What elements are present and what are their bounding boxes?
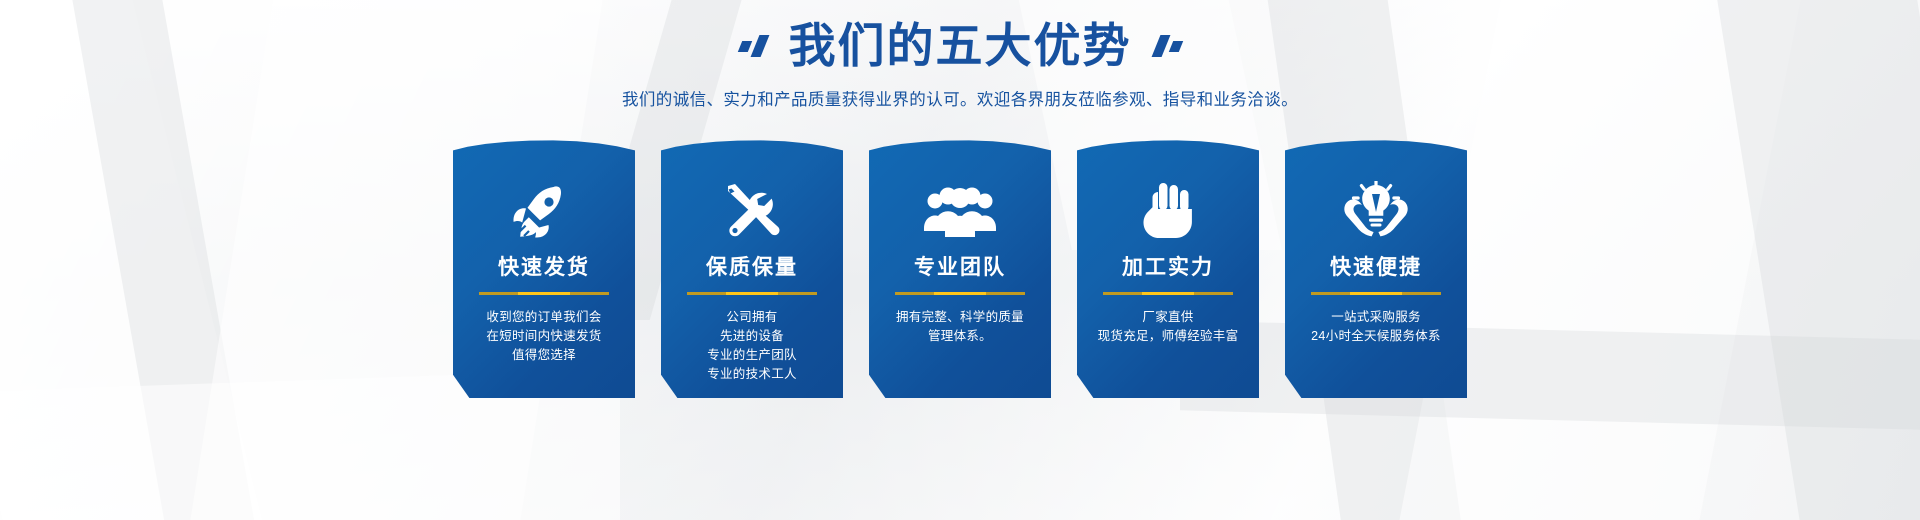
- card-body-line: 值得您选择: [453, 346, 635, 365]
- card-body-line: 24小时全天候服务体系: [1285, 327, 1467, 346]
- card-divider: [1103, 292, 1233, 295]
- header: 我们的五大优势 我们的诚信、实力和产品质量获得业界的认可。欢迎各界朋友莅临参观、…: [0, 0, 1920, 110]
- card-body: 厂家直供 现货充足，师傅经验丰富: [1077, 308, 1259, 346]
- card-divider: [895, 292, 1025, 295]
- left-slash-ornament-icon: [740, 35, 765, 57]
- card-body-line: 一站式采购服务: [1285, 308, 1467, 327]
- fist-hand-icon: [1077, 180, 1259, 242]
- card-body: 公司拥有 先进的设备 专业的生产团队 专业的技术工人: [661, 308, 843, 384]
- card-title: 快速便捷: [1285, 256, 1467, 279]
- card-title: 加工实力: [1077, 256, 1259, 279]
- card-title: 快速发货: [453, 256, 635, 279]
- right-slash-ornament-icon: [1156, 35, 1181, 57]
- advantage-card[interactable]: 快速发货 收到您的订单我们会 在短时间内快速发货 值得您选择: [453, 140, 635, 398]
- card-body: 拥有完整、科学的质量 管理体系。: [869, 308, 1051, 346]
- card-divider: [1311, 292, 1441, 295]
- card-body-line: 公司拥有: [661, 308, 843, 327]
- card-body-line: 在短时间内快速发货: [453, 327, 635, 346]
- advantage-card[interactable]: 保质保量 公司拥有 先进的设备 专业的生产团队 专业的技术工人: [661, 140, 843, 398]
- card-divider: [687, 292, 817, 295]
- page-subtitle: 我们的诚信、实力和产品质量获得业界的认可。欢迎各界朋友莅临参观、指导和业务洽谈。: [0, 86, 1920, 110]
- card-body-line: 拥有完整、科学的质量: [869, 308, 1051, 327]
- page-title: 我们的五大优势: [789, 16, 1132, 76]
- rocket-icon: [453, 180, 635, 242]
- title-row: 我们的五大优势: [0, 16, 1920, 76]
- card-title: 专业团队: [869, 256, 1051, 279]
- card-title: 保质保量: [661, 256, 843, 279]
- card-body-line: 专业的技术工人: [661, 365, 843, 384]
- people-group-icon: [869, 180, 1051, 242]
- advantage-card[interactable]: 快速便捷 一站式采购服务 24小时全天候服务体系: [1285, 140, 1467, 398]
- card-body-line: 收到您的订单我们会: [453, 308, 635, 327]
- card-body-line: 管理体系。: [869, 327, 1051, 346]
- card-body-line: 厂家直供: [1077, 308, 1259, 327]
- card-body: 收到您的订单我们会 在短时间内快速发货 值得您选择: [453, 308, 635, 365]
- advantage-card-list: 快速发货 收到您的订单我们会 在短时间内快速发货 值得您选择 保质保量 公司拥有…: [0, 140, 1920, 398]
- lightbulb-hands-icon: [1285, 180, 1467, 242]
- card-body-line: 现货充足，师傅经验丰富: [1077, 327, 1259, 346]
- advantage-card[interactable]: 加工实力 厂家直供 现货充足，师傅经验丰富: [1077, 140, 1259, 398]
- advantage-card[interactable]: 专业团队 拥有完整、科学的质量 管理体系。: [869, 140, 1051, 398]
- card-body-line: 先进的设备: [661, 327, 843, 346]
- wrench-screwdriver-icon: [661, 180, 843, 242]
- card-divider: [479, 292, 609, 295]
- card-body-line: 专业的生产团队: [661, 346, 843, 365]
- card-body: 一站式采购服务 24小时全天候服务体系: [1285, 308, 1467, 346]
